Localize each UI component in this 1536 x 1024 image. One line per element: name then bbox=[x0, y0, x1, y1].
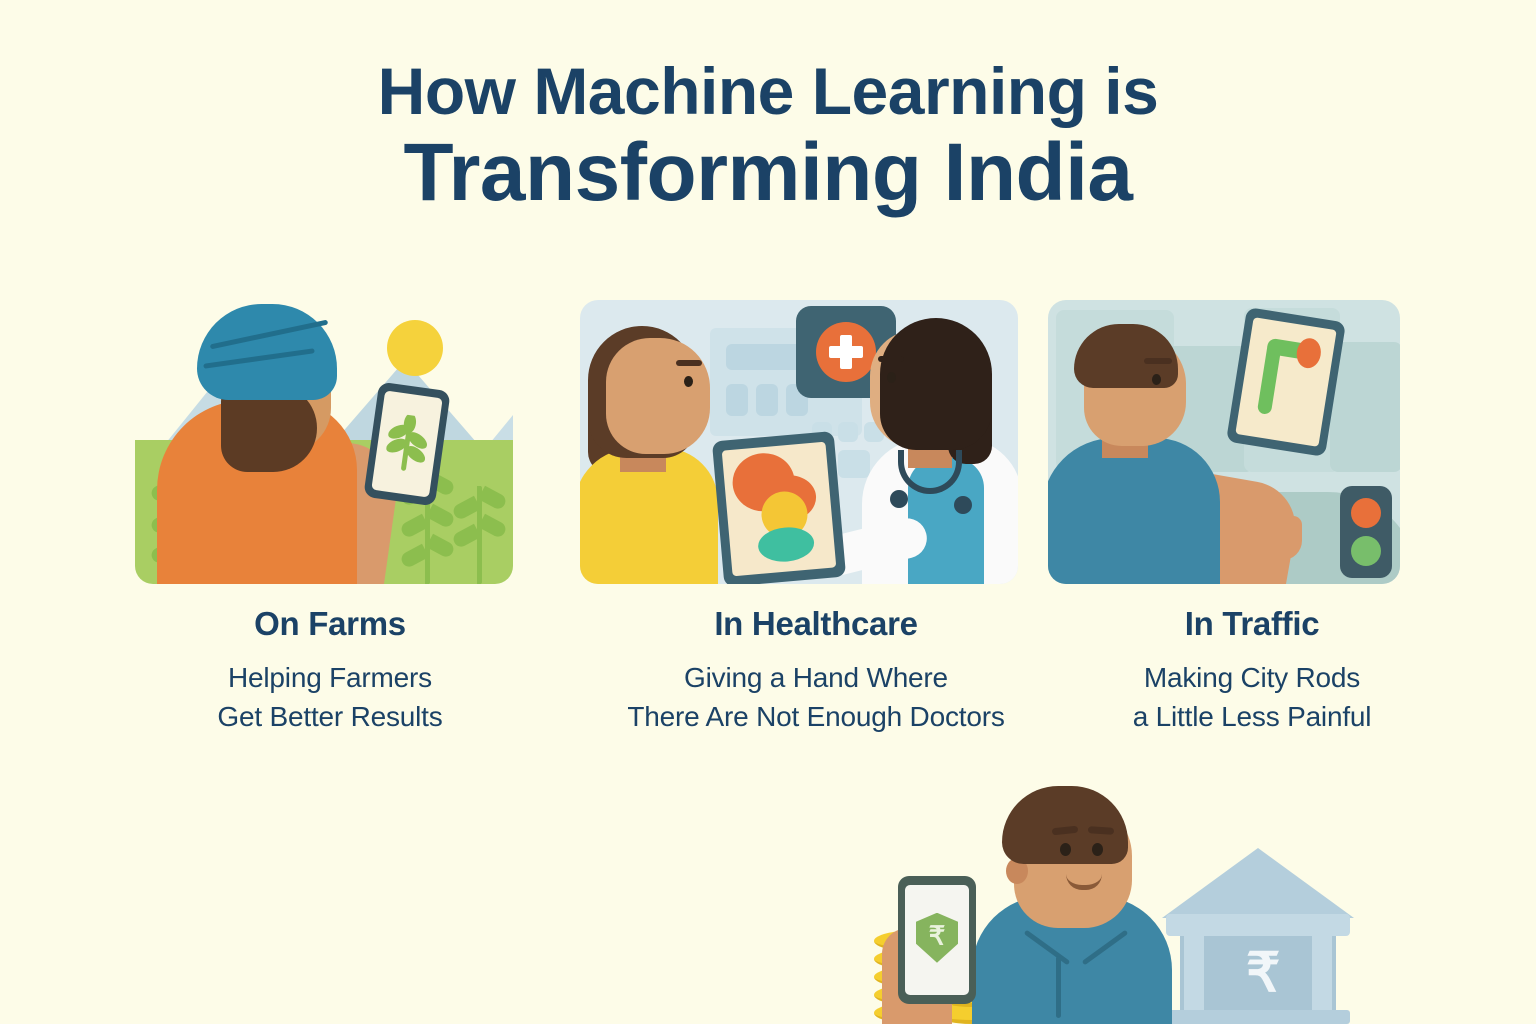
crop-plant-icon bbox=[477, 486, 481, 584]
bank-column bbox=[1184, 936, 1204, 1012]
man-torso bbox=[1048, 438, 1220, 584]
doctor-hair bbox=[880, 318, 992, 450]
title-line-2: Transforming India bbox=[0, 132, 1536, 214]
traffic-lamp-red bbox=[1351, 498, 1381, 528]
caption-farm: On Farms Helping Farmers Get Better Resu… bbox=[130, 604, 530, 737]
caption-healthcare: In Healthcare Giving a Hand Where There … bbox=[556, 604, 1076, 737]
traffic-lamp-green bbox=[1351, 536, 1381, 566]
caption-heading-healthcare: In Healthcare bbox=[556, 604, 1076, 644]
bank-lintel bbox=[1166, 914, 1350, 936]
bank-column bbox=[1312, 936, 1332, 1012]
chart-tile bbox=[838, 422, 858, 442]
page-title: How Machine Learning is Transforming Ind… bbox=[0, 58, 1536, 214]
caption-subtitle-traffic: Making City Rods a Little Less Painful bbox=[1062, 658, 1442, 738]
building-icon bbox=[1330, 342, 1400, 472]
tablet-icon bbox=[1226, 307, 1346, 457]
map-pin-icon bbox=[1295, 337, 1323, 370]
patient-face bbox=[606, 338, 710, 454]
sun-icon bbox=[387, 320, 443, 376]
patient-eye bbox=[684, 376, 693, 387]
illustration-farm bbox=[135, 300, 513, 584]
phone-screen: ₹ bbox=[905, 885, 969, 995]
man-eye bbox=[1092, 843, 1103, 856]
tablet-screen bbox=[1235, 317, 1336, 447]
caption-row: On Farms Helping Farmers Get Better Resu… bbox=[0, 604, 1536, 774]
caption-heading-traffic: In Traffic bbox=[1062, 604, 1442, 644]
chart-tile bbox=[838, 450, 870, 478]
man-eyebrow bbox=[1144, 358, 1172, 364]
rupee-symbol-icon: ₹ bbox=[1246, 946, 1280, 1000]
stethoscope-bell bbox=[954, 496, 972, 514]
illustration-row bbox=[0, 300, 1536, 590]
bank-roof bbox=[1162, 848, 1354, 918]
infographic-canvas: How Machine Learning is Transforming Ind… bbox=[0, 0, 1536, 1024]
title-line-1: How Machine Learning is bbox=[0, 58, 1536, 124]
illustration-traffic bbox=[1048, 300, 1400, 584]
traffic-light-icon bbox=[1340, 486, 1392, 578]
man-eye bbox=[1152, 374, 1161, 385]
stethoscope-bell bbox=[890, 490, 908, 508]
illustration-healthcare bbox=[580, 300, 1018, 584]
medical-cross-icon bbox=[829, 346, 863, 358]
chart-bar bbox=[726, 384, 748, 416]
bank-building-icon: ₹ bbox=[1160, 848, 1356, 1024]
shirt-placket bbox=[1056, 956, 1061, 1018]
bank-base bbox=[1166, 1010, 1350, 1024]
smartphone-icon: ₹ bbox=[898, 876, 976, 1004]
scan-blob bbox=[757, 525, 816, 564]
caption-subtitle-healthcare: Giving a Hand Where There Are Not Enough… bbox=[556, 658, 1076, 738]
tablet-screen bbox=[722, 442, 837, 577]
caption-subtitle-farm: Helping Farmers Get Better Results bbox=[130, 658, 530, 738]
patient-eyebrow bbox=[676, 360, 702, 366]
chart-bar bbox=[756, 384, 778, 416]
doctor-eye bbox=[887, 372, 896, 383]
man-hand bbox=[1244, 516, 1302, 560]
illustration-finance: ₹ bbox=[860, 782, 1360, 1024]
tablet-icon bbox=[712, 431, 846, 584]
rupee-symbol-icon: ₹ bbox=[929, 920, 946, 951]
caption-heading-farm: On Farms bbox=[130, 604, 530, 644]
man-eye bbox=[1060, 843, 1071, 856]
doctor-eyebrow bbox=[878, 356, 904, 362]
plant-leaf-icon bbox=[383, 412, 431, 475]
caption-traffic: In Traffic Making City Rods a Little Les… bbox=[1062, 604, 1442, 737]
phone-screen bbox=[371, 390, 442, 497]
